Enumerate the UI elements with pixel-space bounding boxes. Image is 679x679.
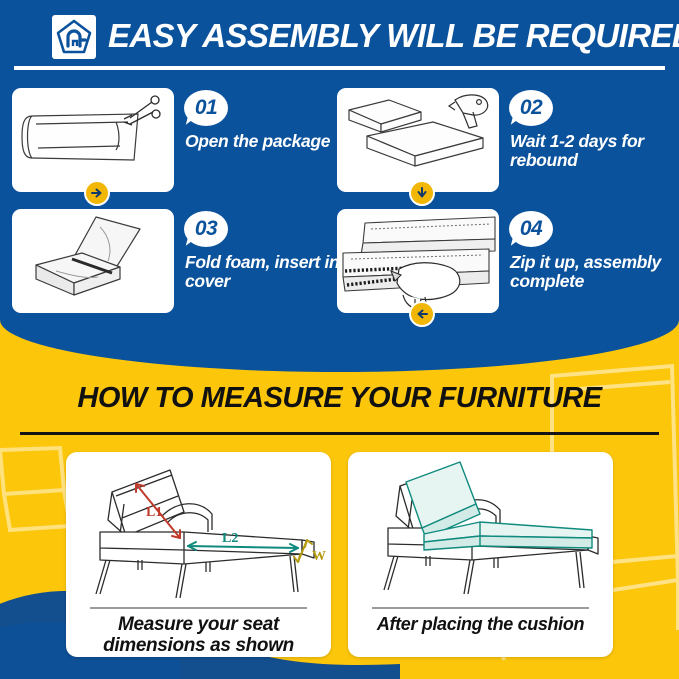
steps-grid: 01 Open the package <box>0 88 679 320</box>
step-04-number: 04 <box>509 211 553 247</box>
step-01-text: 01 Open the package <box>184 88 344 192</box>
arrow-down-icon <box>415 186 429 200</box>
measure-section-title: HOW TO MEASURE YOUR FURNITURE <box>0 381 679 415</box>
infographic-root: EASY ASSEMBLY WILL BE REQUIRED <box>0 0 679 679</box>
step-02-text: 02 Wait 1-2 days for rebound <box>509 88 669 192</box>
step-03-number-bubble: 03 <box>184 211 230 251</box>
step-04-label: Zip it up, assembly complete <box>510 253 679 291</box>
step-02-illustration-card <box>337 88 499 192</box>
step-04-illustration-card <box>337 209 499 313</box>
step-02-number: 02 <box>509 90 553 126</box>
step-02-arrow-badge <box>409 180 435 206</box>
measure-card-dimensions: L1 L2 W Measure your seat dimensions as … <box>66 452 331 657</box>
measure-card-left-caption: Measure your seat dimensions as shown <box>74 614 323 656</box>
foam-slabs-with-hairdryer-icon <box>337 88 499 192</box>
header-title: EASY ASSEMBLY WILL BE REQUIRED <box>108 13 663 59</box>
chaise-lounge-with-cushion-icon <box>348 456 613 604</box>
arrow-right-icon <box>90 186 104 200</box>
step-03-text: 03 Fold foam, insert into cover <box>184 209 344 313</box>
dimension-label-w: W <box>312 549 326 564</box>
arrow-left-icon <box>415 307 429 321</box>
measure-card-right-divider <box>372 607 589 609</box>
measure-card-left-divider <box>90 607 307 609</box>
step-03-number: 03 <box>184 211 228 247</box>
step-02-number-bubble: 02 <box>509 90 555 130</box>
folded-foam-into-cover-icon <box>12 209 174 313</box>
step-03-illustration-card <box>12 209 174 313</box>
step-02-label: Wait 1-2 days for rebound <box>510 132 679 170</box>
hand-zipping-cover-icon <box>337 209 499 313</box>
step-01-illustration-card <box>12 88 174 192</box>
header: EASY ASSEMBLY WILL BE REQUIRED <box>0 10 679 62</box>
step-04-number-bubble: 04 <box>509 211 555 251</box>
step-03-label: Fold foam, insert into cover <box>185 253 357 291</box>
step-01-arrow-badge <box>84 180 110 206</box>
header-divider <box>14 66 665 70</box>
chaise-lounge-with-dimensions-icon: L1 L2 W <box>66 456 331 604</box>
step-item-04: 04 Zip it up, assembly complete <box>337 209 667 319</box>
measure-card-right-caption: After placing the cushion <box>356 614 605 635</box>
step-item-01: 01 Open the package <box>12 88 342 198</box>
step-01-number: 01 <box>184 90 228 126</box>
rolled-package-with-scissors-icon <box>12 88 174 192</box>
measure-title-divider <box>20 432 659 435</box>
assembly-panel: EASY ASSEMBLY WILL BE REQUIRED <box>0 0 679 372</box>
dimension-label-l1: L1 <box>146 505 162 520</box>
measure-card-cushion: After placing the cushion <box>348 452 613 657</box>
step-04-arrow-badge <box>409 301 435 327</box>
dimension-label-l2: L2 <box>222 531 238 546</box>
step-item-02: 02 Wait 1-2 days for rebound <box>337 88 667 198</box>
step-01-label: Open the package <box>185 132 357 151</box>
step-item-03: 03 Fold foam, insert into cover <box>12 209 342 319</box>
step-01-number-bubble: 01 <box>184 90 230 130</box>
house-pentagon-logo-icon <box>52 15 96 59</box>
step-04-text: 04 Zip it up, assembly complete <box>509 209 669 313</box>
